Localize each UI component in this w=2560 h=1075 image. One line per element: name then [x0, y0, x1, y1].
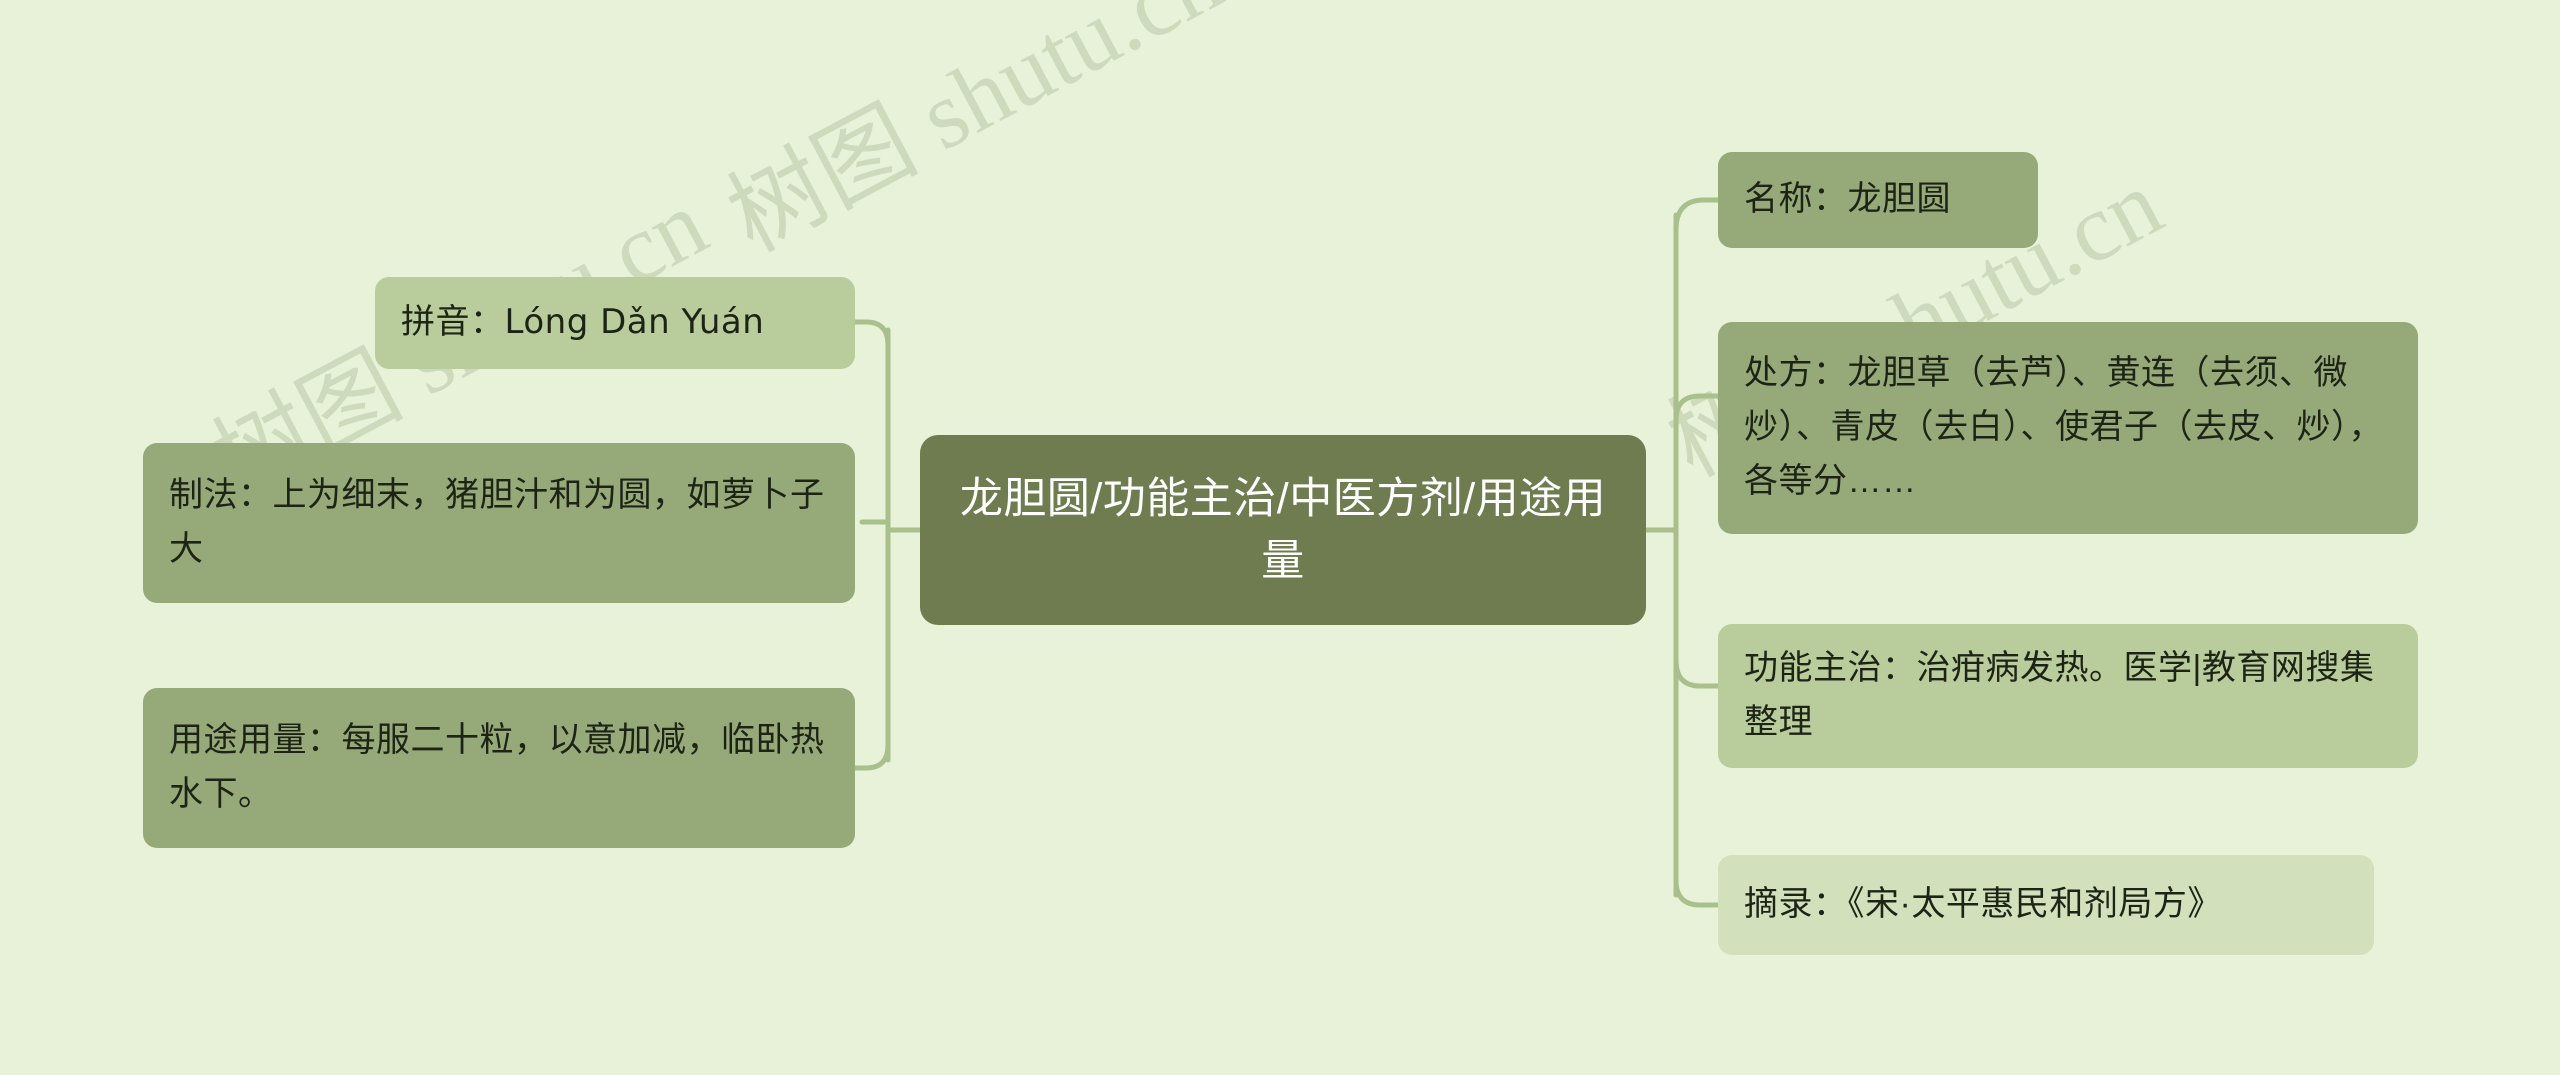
node-gongneng-zhuzhi[interactable]: 功能主治：治疳病发热。医学|教育网搜集整理 — [1718, 624, 2418, 768]
node-yongtu-yongliang-label: 用途用量：每服二十粒，以意加减，临卧热水下。 — [169, 714, 829, 821]
node-gongneng-zhuzhi-label: 功能主治：治疳病发热。医学|教育网搜集整理 — [1744, 642, 2392, 749]
node-zhifa-label: 制法：上为细末，猪胆汁和为圆，如萝卜子大 — [169, 469, 829, 576]
node-zhailu[interactable]: 摘录：《宋·太平惠民和剂局方》 — [1718, 855, 2374, 955]
connector-left-pinyin — [855, 322, 888, 345]
root-node[interactable]: 龙胆圆/功能主治/中医方剂/用途用量 — [920, 435, 1646, 625]
node-mingcheng[interactable]: 名称：龙胆圆 — [1718, 152, 2038, 248]
node-zhailu-label: 摘录：《宋·太平惠民和剂局方》 — [1744, 878, 2348, 932]
node-chufang-label: 处方：龙胆草（去芦）、黄连（去须、微炒）、青皮（去白）、使君子（去皮、炒），各等… — [1744, 347, 2392, 508]
connector-right-gongneng — [1676, 660, 1718, 686]
root-node-label: 龙胆圆/功能主治/中医方剂/用途用量 — [942, 468, 1624, 593]
watermark-text: 树图 shutu.cn — [700, 0, 1241, 278]
connector-right-chufang — [1676, 396, 1718, 420]
node-zhifa[interactable]: 制法：上为细末，猪胆汁和为圆，如萝卜子大 — [143, 443, 855, 603]
node-chufang[interactable]: 处方：龙胆草（去芦）、黄连（去须、微炒）、青皮（去白）、使君子（去皮、炒），各等… — [1718, 322, 2418, 534]
node-yongtu-yongliang[interactable]: 用途用量：每服二十粒，以意加减，临卧热水下。 — [143, 688, 855, 848]
node-pinyin-label: 拼音：Lóng Dǎn Yuán — [401, 296, 829, 350]
connector-left-yongtu — [855, 745, 888, 768]
connector-right-mingcheng — [1676, 200, 1718, 230]
node-pinyin[interactable]: 拼音：Lóng Dǎn Yuán — [375, 277, 855, 369]
node-mingcheng-label: 名称：龙胆圆 — [1744, 173, 2012, 227]
mindmap-canvas: 树图 shutu.cn 树图 shutu.cn 树图 shutu.cn — [0, 0, 2560, 1075]
connector-right-zhailu — [1676, 880, 1718, 905]
